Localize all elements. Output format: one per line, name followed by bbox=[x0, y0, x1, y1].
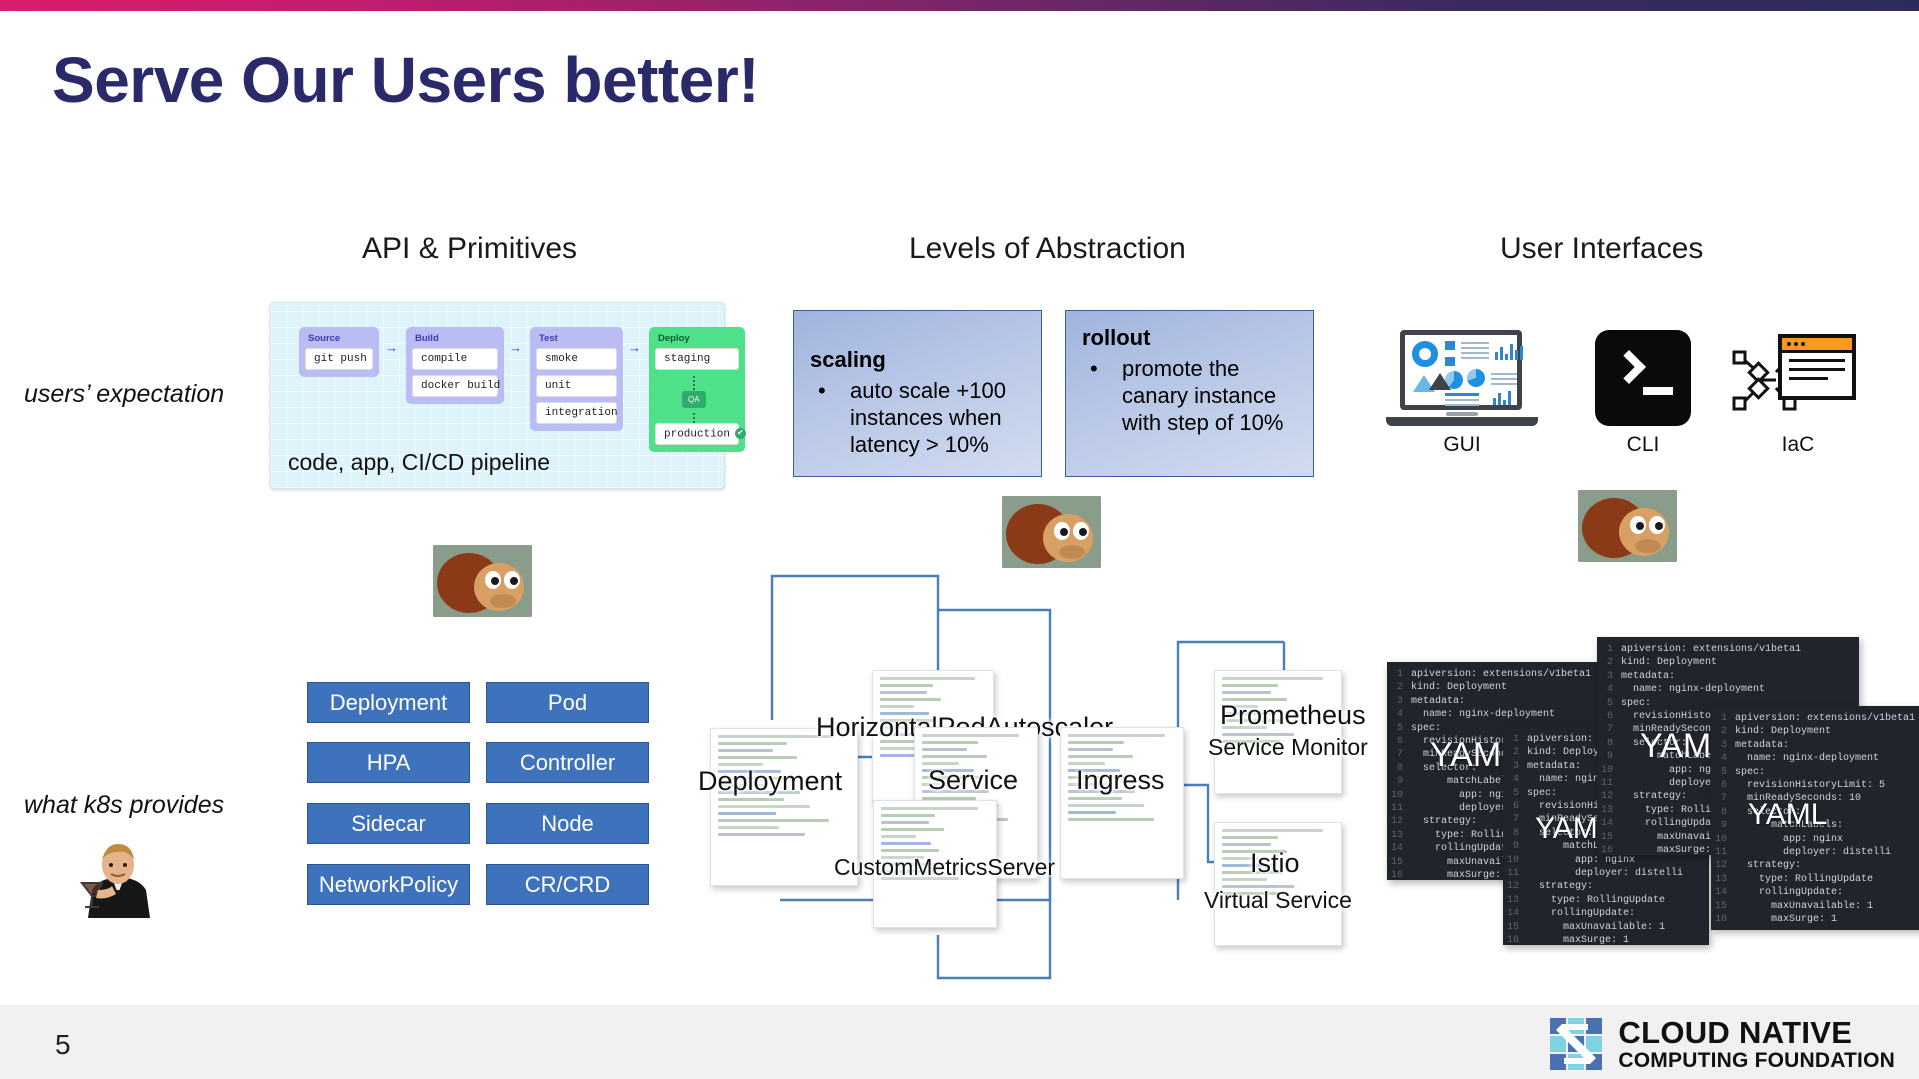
yaml-line-text: name: nginx-deployment bbox=[1411, 708, 1555, 721]
interface-iac[interactable]: IaC bbox=[1728, 330, 1868, 457]
yaml-line-number: 14 bbox=[1507, 907, 1527, 920]
yaml-line-number: 16 bbox=[1507, 934, 1527, 945]
yaml-line-number: 6 bbox=[1601, 710, 1621, 723]
stage-item: git push bbox=[305, 348, 373, 370]
yaml-line-number: 2 bbox=[1715, 725, 1735, 738]
accent-bar bbox=[0, 0, 1919, 11]
yaml-line-number: 13 bbox=[1715, 873, 1735, 886]
yaml-line: 12 strategy: bbox=[1507, 880, 1709, 893]
cicd-stage-test: Test smoke unit integration bbox=[530, 327, 623, 431]
bullet-glyph: • bbox=[810, 377, 850, 458]
yaml-line-number: 2 bbox=[1601, 656, 1621, 669]
stage-item: docker build bbox=[412, 375, 498, 397]
yaml-line: 15 maxUnavailable: 1 bbox=[1507, 921, 1709, 934]
yaml-line-number: 7 bbox=[1601, 723, 1621, 736]
cicd-stage-source: Source git push bbox=[299, 327, 379, 377]
yaml-line-number: 15 bbox=[1601, 831, 1621, 844]
yaml-line-number: 9 bbox=[1715, 819, 1735, 832]
yaml-line-number: 10 bbox=[1715, 833, 1735, 846]
yaml-line: 1apiversion: extensions/v1beta1 bbox=[1715, 712, 1919, 725]
yaml-line-text: kind: Deployment bbox=[1621, 656, 1717, 669]
yaml-line-number: 11 bbox=[1507, 867, 1527, 880]
yaml-line-number: 8 bbox=[1715, 806, 1735, 819]
yaml-line-number: 12 bbox=[1601, 790, 1621, 803]
yaml-line-number: 11 bbox=[1601, 777, 1621, 790]
stage-title: Deploy bbox=[658, 333, 739, 344]
yaml-line-number: 13 bbox=[1601, 804, 1621, 817]
yaml-line-number: 7 bbox=[1507, 813, 1527, 826]
yaml-line-number: 10 bbox=[1601, 764, 1621, 777]
interface-gui[interactable]: GUI bbox=[1386, 330, 1538, 457]
yaml-line-text: spec: bbox=[1735, 766, 1765, 779]
primitive-button-hpa[interactable]: HPA bbox=[307, 742, 470, 783]
stage-item-production: production✔ bbox=[655, 423, 739, 445]
yaml-line-text: spec: bbox=[1621, 697, 1651, 710]
yaml-line-number: 4 bbox=[1391, 708, 1411, 721]
yaml-line: 3metadata: bbox=[1715, 739, 1919, 752]
stage-title: Build bbox=[415, 333, 498, 344]
graph-label-prometheus: Prometheus bbox=[1220, 700, 1366, 731]
yaml-line-text: maxSurge: 1 bbox=[1411, 869, 1513, 880]
yaml-line-text: maxSurge: 1 bbox=[1527, 934, 1629, 945]
yaml-line-text: name: nginx-deployment bbox=[1735, 752, 1879, 765]
yaml-card-ingress[interactable] bbox=[1060, 727, 1184, 879]
yaml-line: 15 maxUnavailable: 1 bbox=[1715, 900, 1919, 913]
yaml-card-prometheus[interactable] bbox=[1214, 670, 1342, 794]
yaml-line-number: 14 bbox=[1601, 817, 1621, 830]
yaml-line: 3metadata: bbox=[1601, 670, 1859, 683]
abstraction-title: rollout bbox=[1082, 325, 1297, 351]
yaml-line-number: 7 bbox=[1391, 748, 1411, 761]
yaml-line-number: 8 bbox=[1391, 762, 1411, 775]
cicd-caption: code, app, CI/CD pipeline bbox=[288, 449, 550, 476]
yaml-line: 1apiversion: extensions/v1beta1 bbox=[1601, 643, 1859, 656]
graph-label-service: Service bbox=[928, 765, 1018, 796]
yaml-line: 2kind: Deployment bbox=[1715, 725, 1919, 738]
yaml-line-number: 3 bbox=[1715, 739, 1735, 752]
cncf-wordmark: CLOUD NATIVE COMPUTING FOUNDATION bbox=[1618, 1017, 1895, 1071]
yaml-line-number: 3 bbox=[1507, 760, 1527, 773]
yaml-line-number: 13 bbox=[1507, 894, 1527, 907]
yaml-line: 10 app: nginx bbox=[1507, 854, 1709, 867]
yaml-card-istio[interactable] bbox=[1214, 822, 1342, 946]
yaml-line-text: app: nginx bbox=[1735, 833, 1843, 846]
yaml-line-text: apiversion: extensions/v1beta1 bbox=[1411, 668, 1591, 681]
k8s-object-graph: Deployment HorizontalPodAutoscaler Servi… bbox=[680, 560, 1380, 980]
yaml-line-number: 4 bbox=[1715, 752, 1735, 765]
yaml-badge: YAML bbox=[1748, 798, 1827, 832]
yaml-line: 13 type: RollingUpdate bbox=[1507, 894, 1709, 907]
abstraction-text: promote the canary instance with step of… bbox=[1122, 355, 1297, 436]
yaml-line-text: revisionHistoryLimit: 5 bbox=[1735, 779, 1885, 792]
yaml-line: 14 rollingUpdate: bbox=[1715, 886, 1919, 899]
row-label-users-expectation: users’ expectation bbox=[24, 380, 224, 409]
yaml-line-number: 11 bbox=[1715, 846, 1735, 859]
graph-label-custommetricsserver: CustomMetricsServer bbox=[834, 854, 1055, 881]
yaml-line: 4 name: nginx-deployment bbox=[1715, 752, 1919, 765]
primitive-button-controller[interactable]: Controller bbox=[486, 742, 649, 783]
graph-sublabel-prometheus: Service Monitor bbox=[1208, 734, 1368, 761]
yaml-line-number: 13 bbox=[1391, 829, 1411, 842]
yaml-line-number: 15 bbox=[1507, 921, 1527, 934]
graph-label-deployment: Deployment bbox=[698, 766, 842, 797]
cncf-line-2: COMPUTING FOUNDATION bbox=[1618, 1050, 1895, 1071]
yaml-line-number: 15 bbox=[1391, 856, 1411, 869]
abstraction-box-rollout: rollout • promote the canary instance wi… bbox=[1065, 310, 1314, 477]
abstraction-box-scaling: scaling • auto scale +100 instances when… bbox=[793, 310, 1042, 477]
stage-item: integration bbox=[536, 402, 617, 424]
yaml-line-text: metadata: bbox=[1527, 760, 1581, 773]
yaml-line-number: 6 bbox=[1507, 800, 1527, 813]
yaml-line-text: type: RollingUpdate bbox=[1735, 873, 1873, 886]
yaml-line: 16 maxSurge: 1 bbox=[1507, 934, 1709, 945]
yaml-line-number: 12 bbox=[1507, 880, 1527, 893]
yaml-line-text: name: nginx-deployment bbox=[1621, 683, 1765, 696]
yaml-line-number: 9 bbox=[1507, 840, 1527, 853]
monkey-puppet-meme-icon bbox=[1002, 496, 1101, 568]
primitive-button-sidecar[interactable]: Sidecar bbox=[307, 803, 470, 844]
primitive-button-pod[interactable]: Pod bbox=[486, 682, 649, 723]
yaml-line: 14 rollingUpdate: bbox=[1507, 907, 1709, 920]
yaml-line-number: 8 bbox=[1601, 737, 1621, 750]
yaml-line-number: 4 bbox=[1601, 683, 1621, 696]
abstraction-text: auto scale +100 instances when latency >… bbox=[850, 377, 1025, 458]
yaml-line-text: maxSurge: 1 bbox=[1735, 913, 1837, 926]
stage-item: unit bbox=[536, 375, 617, 397]
yaml-line-number: 6 bbox=[1715, 779, 1735, 792]
primitive-button-crcrd[interactable]: CR/CRD bbox=[486, 864, 649, 905]
yaml-line-text: spec: bbox=[1527, 787, 1557, 800]
monkey-puppet-meme-icon bbox=[433, 545, 532, 617]
yaml-line-text: maxUnavailable: 1 bbox=[1527, 921, 1665, 934]
yaml-line-number: 7 bbox=[1715, 792, 1735, 805]
column-header-interfaces: User Interfaces bbox=[1500, 232, 1703, 266]
terminal-prompt-icon bbox=[1595, 330, 1691, 426]
yaml-line: 2kind: Deployment bbox=[1601, 656, 1859, 669]
yaml-line-number: 16 bbox=[1601, 844, 1621, 855]
row-label-what-k8s-provides: what k8s provides bbox=[24, 791, 224, 820]
stage-item: compile bbox=[412, 348, 498, 370]
yaml-line: 6 revisionHistoryLimit: 5 bbox=[1715, 779, 1919, 792]
cicd-stage-deploy: Deploy staging QA production✔ bbox=[649, 327, 745, 452]
yaml-line-number: 15 bbox=[1715, 900, 1735, 913]
page-number: 5 bbox=[55, 1029, 71, 1061]
yaml-line-text: strategy: bbox=[1735, 859, 1801, 872]
yaml-line-number: 12 bbox=[1391, 815, 1411, 828]
yaml-line: 16 maxSurge: 1 bbox=[1715, 913, 1919, 926]
yaml-line-number: 16 bbox=[1391, 869, 1411, 880]
yaml-line-number: 1 bbox=[1601, 643, 1621, 656]
stage-item: smoke bbox=[536, 348, 617, 370]
cncf-logo: CLOUD NATIVE COMPUTING FOUNDATION bbox=[1550, 1017, 1895, 1071]
stage-item: staging bbox=[655, 348, 739, 370]
column-header-abstraction: Levels of Abstraction bbox=[909, 232, 1186, 266]
graph-label-istio: Istio bbox=[1250, 848, 1300, 879]
yaml-line-number: 5 bbox=[1391, 722, 1411, 735]
yaml-line-number: 1 bbox=[1391, 668, 1411, 681]
yaml-line-text: strategy: bbox=[1621, 790, 1687, 803]
yaml-line-number: 2 bbox=[1391, 681, 1411, 694]
yaml-line-text: apiversion: extensions/v1beta1 bbox=[1735, 712, 1915, 725]
yaml-line-number: 8 bbox=[1507, 827, 1527, 840]
yaml-line-number: 5 bbox=[1507, 787, 1527, 800]
yaml-line-number: 5 bbox=[1601, 697, 1621, 710]
graph-sublabel-istio: Virtual Service bbox=[1204, 887, 1352, 914]
yaml-line-text: rollingUpdate: bbox=[1527, 907, 1635, 920]
yaml-line-text: kind: Deployment bbox=[1735, 725, 1831, 738]
yaml-line: 12 strategy: bbox=[1715, 859, 1919, 872]
yaml-line-text: type: RollingUpdate bbox=[1527, 894, 1665, 907]
yaml-line-number: 14 bbox=[1391, 842, 1411, 855]
yaml-line-number: 1 bbox=[1507, 733, 1527, 746]
graph-label-ingress: Ingress bbox=[1076, 765, 1165, 796]
stage-title: Test bbox=[539, 333, 617, 344]
yaml-line-number: 11 bbox=[1391, 802, 1411, 815]
yaml-line-text: metadata: bbox=[1411, 695, 1465, 708]
slide: Serve Our Users better! API & Primitives… bbox=[0, 0, 1919, 1079]
yaml-line-number: 10 bbox=[1391, 789, 1411, 802]
yaml-line-text: metadata: bbox=[1621, 670, 1675, 683]
laptop-dashboard-icon bbox=[1386, 330, 1538, 426]
interface-caption: IaC bbox=[1728, 433, 1868, 457]
arrow-right-icon: → bbox=[385, 340, 398, 355]
yaml-line-text: metadata: bbox=[1735, 739, 1789, 752]
arrow-right-icon: → bbox=[628, 340, 641, 355]
qa-badge: QA bbox=[682, 391, 706, 408]
column-header-api: API & Primitives bbox=[362, 232, 577, 266]
primitive-button-node[interactable]: Node bbox=[486, 803, 649, 844]
cncf-line-1: CLOUD NATIVE bbox=[1618, 1017, 1895, 1048]
yaml-line: 5spec: bbox=[1715, 766, 1919, 779]
yaml-line-text: deployer: distelli bbox=[1527, 867, 1683, 880]
yaml-line-text: deployer: distelli bbox=[1735, 846, 1891, 859]
primitive-button-deployment[interactable]: Deployment bbox=[307, 682, 470, 723]
cncf-mark-icon bbox=[1550, 1018, 1602, 1070]
abstraction-bullet-item: • auto scale +100 instances when latency… bbox=[810, 377, 1025, 458]
yaml-line-number: 4 bbox=[1507, 773, 1527, 786]
slide-footer: 5 CLOUD NATIVE bbox=[0, 1005, 1919, 1079]
yaml-line-text: maxUnavailable: 1 bbox=[1735, 900, 1873, 913]
check-icon: ✔ bbox=[735, 428, 746, 439]
yaml-line-text: strategy: bbox=[1411, 815, 1477, 828]
yaml-line: 11 deployer: distelli bbox=[1715, 846, 1919, 859]
yaml-line-number: 6 bbox=[1391, 735, 1411, 748]
yaml-line-number: 10 bbox=[1507, 854, 1527, 867]
bullet-glyph: • bbox=[1082, 355, 1122, 436]
yaml-line-text: app: nginx bbox=[1527, 854, 1635, 867]
abstraction-title: scaling bbox=[810, 347, 1025, 373]
arrow-right-icon: → bbox=[509, 340, 522, 355]
page-title: Serve Our Users better! bbox=[52, 43, 759, 117]
yaml-line-number: 3 bbox=[1601, 670, 1621, 683]
yaml-line-number: 16 bbox=[1715, 913, 1735, 926]
interface-caption: GUI bbox=[1386, 433, 1538, 457]
yaml-line: 10 app: nginx bbox=[1715, 833, 1919, 846]
yaml-line-number: 2 bbox=[1507, 746, 1527, 759]
cicd-stage-build: Build compile docker build bbox=[406, 327, 504, 404]
interface-caption: CLI bbox=[1567, 433, 1719, 457]
yaml-line-number: 1 bbox=[1715, 712, 1735, 725]
yaml-line-text: spec: bbox=[1411, 722, 1441, 735]
yaml-line-text: kind: Deployment bbox=[1411, 681, 1507, 694]
yaml-line-number: 14 bbox=[1715, 886, 1735, 899]
yaml-line-text: strategy: bbox=[1527, 880, 1593, 893]
abstraction-bullet-item: • promote the canary instance with step … bbox=[1082, 355, 1297, 436]
interface-cli[interactable]: CLI bbox=[1567, 330, 1719, 457]
yaml-line: 4 name: nginx-deployment bbox=[1601, 683, 1859, 696]
yaml-line: 13 type: RollingUpdate bbox=[1715, 873, 1919, 886]
yaml-line-text: apiversion: extensions/v1beta1 bbox=[1621, 643, 1801, 656]
toasting-man-meme-icon bbox=[68, 838, 164, 918]
primitive-button-networkpolicy[interactable]: NetworkPolicy bbox=[307, 864, 470, 905]
yaml-line-number: 9 bbox=[1391, 775, 1411, 788]
flow-dotted-line bbox=[693, 376, 695, 390]
yaml-line: 11 deployer: distelli bbox=[1507, 867, 1709, 880]
stage-title: Source bbox=[308, 333, 373, 344]
yaml-line-number: 9 bbox=[1601, 750, 1621, 763]
yaml-line-text: rollingUpdate: bbox=[1735, 886, 1843, 899]
monkey-puppet-meme-icon bbox=[1578, 490, 1677, 562]
cicd-pipeline-panel: Source git push → Build compile docker b… bbox=[270, 302, 725, 489]
yaml-line-number: 5 bbox=[1715, 766, 1735, 779]
yaml-line-number: 3 bbox=[1391, 695, 1411, 708]
yaml-line-text: maxSurge: 1 bbox=[1621, 844, 1723, 855]
network-window-icon bbox=[1728, 330, 1856, 426]
yaml-line-number: 12 bbox=[1715, 859, 1735, 872]
